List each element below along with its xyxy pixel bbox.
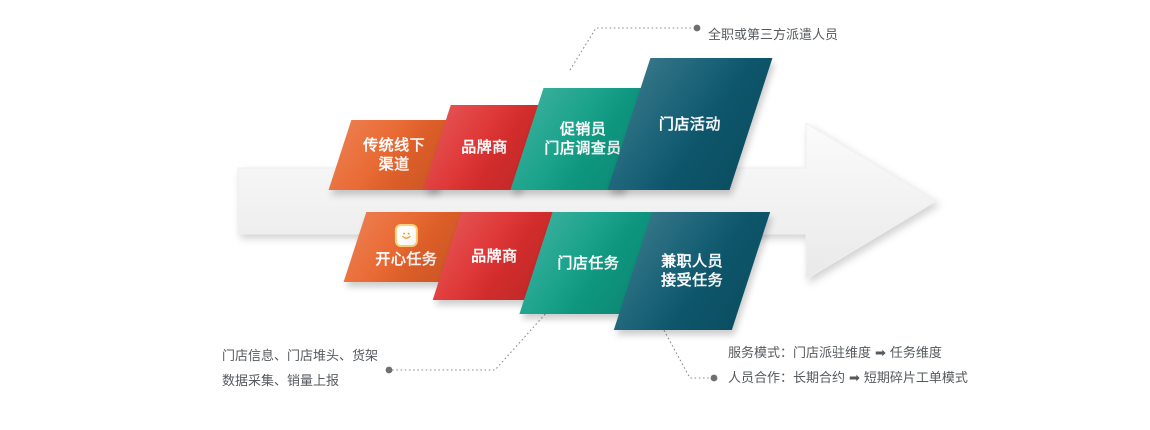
step-label-line: 兼职人员 <box>661 252 723 271</box>
annotation-line: 服务模式：门店派驻维度➡任务维度 <box>728 341 968 366</box>
annotation-suffix: 短期碎片工单模式 <box>864 371 968 386</box>
annotation-suffix: 任务维度 <box>890 346 942 361</box>
right-arrow-icon: ➡ <box>845 371 864 386</box>
step-label-line: 促销员 <box>560 120 607 139</box>
right-arrow-icon: ➡ <box>871 346 890 361</box>
step-label-line: 传统线下 <box>363 136 425 155</box>
annotation-prefix: 服务模式：门店派驻维度 <box>728 346 871 361</box>
smiley-icon <box>397 226 416 245</box>
annotation-line: 数据采集、销量上报 <box>222 369 378 394</box>
annotation-line: 人员合作：长期合约➡短期碎片工单模式 <box>728 366 968 391</box>
step-label-line: 品牌商 <box>461 138 508 157</box>
step-label-line: 接受任务 <box>661 271 723 290</box>
step-label-line: 门店活动 <box>659 115 721 134</box>
step-label-line: 门店任务 <box>557 254 619 273</box>
annotation-top-right: 全职或第三方派遣人员 <box>708 23 838 48</box>
step-label-line: 品牌商 <box>471 247 518 266</box>
step-label-line: 渠道 <box>378 155 409 174</box>
diagram-canvas: 传统线下 渠道 品牌商 促销员 门店调查员 门店活动 <box>0 0 1150 430</box>
annotation-bottom-left: 门店信息、门店堆头、货架 数据采集、销量上报 <box>222 344 378 395</box>
annotation-line: 全职或第三方派遣人员 <box>708 23 838 48</box>
annotation-prefix: 人员合作：长期合约 <box>728 371 845 386</box>
step-label-line: 门店调查员 <box>544 139 622 158</box>
step-label-line: 开心任务 <box>375 250 437 269</box>
annotation-bottom-right: 服务模式：门店派驻维度➡任务维度 人员合作：长期合约➡短期碎片工单模式 <box>728 341 968 392</box>
process-blocks: 传统线下 渠道 品牌商 促销员 门店调查员 门店活动 <box>0 0 1150 430</box>
annotation-line: 门店信息、门店堆头、货架 <box>222 344 378 369</box>
step-store-activity[interactable]: 门店活动 <box>608 58 773 190</box>
